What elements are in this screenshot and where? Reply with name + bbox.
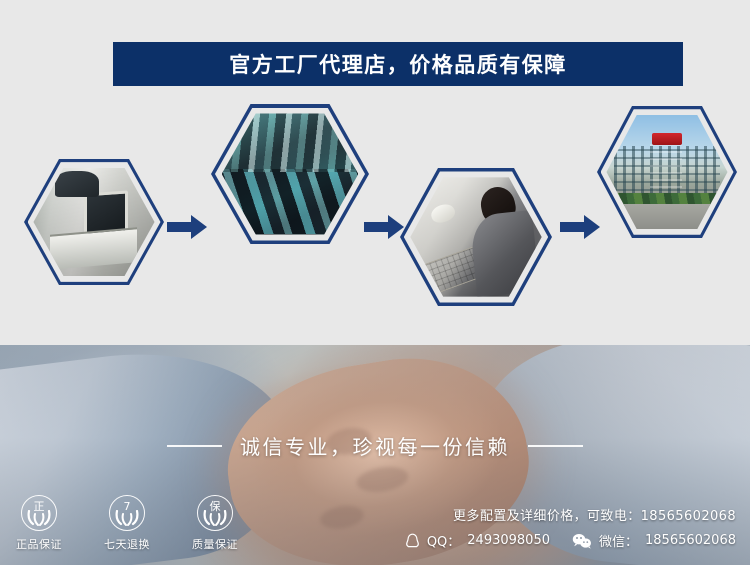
badge-seven-day-return: 7 七天退换 xyxy=(96,495,158,552)
guarantee-badges: 正 正品保证 7 xyxy=(8,495,246,552)
process-flow xyxy=(0,96,750,321)
qq-icon xyxy=(405,533,420,549)
equipment-photo xyxy=(33,168,154,277)
flow-arrow-3 xyxy=(560,214,600,240)
im-line: QQ： 2493098050 微信： 18565602068 xyxy=(405,531,736,550)
header-title: 官方工厂代理店，价格品质有保障 xyxy=(229,49,567,79)
badge-glyph: 保 xyxy=(198,501,232,512)
contact-block: 更多配置及详细价格，可致电：18565602068 QQ： 2493098050 xyxy=(405,505,736,550)
qq-number: 2493098050 xyxy=(467,533,550,548)
process-step-equipment xyxy=(24,159,164,285)
header-banner: 官方工厂代理店，价格品质有保障 xyxy=(113,42,683,86)
badge-label: 正品保证 xyxy=(16,536,62,552)
flow-arrow-2 xyxy=(364,214,404,240)
badge-quality: 保 质量保证 xyxy=(184,495,246,552)
process-step-service xyxy=(400,168,552,306)
factory-building-photo xyxy=(606,115,727,229)
promo-page: 官方工厂代理店，价格品质有保障 xyxy=(0,0,750,576)
wechat-icon xyxy=(572,533,592,549)
bottom-white-strip xyxy=(0,565,750,576)
customer-service-photo xyxy=(410,177,541,296)
badge-glyph: 正 xyxy=(22,501,56,512)
hands-quality-icon: 保 xyxy=(197,495,233,531)
qq-label: QQ： xyxy=(427,531,460,550)
top-section: 官方工厂代理店，价格品质有保障 xyxy=(0,0,750,345)
production-line-photo xyxy=(222,113,359,234)
slogan-rule-left xyxy=(167,445,222,447)
badge-authentic: 正 正品保证 xyxy=(8,495,70,552)
hands-seven-icon: 7 xyxy=(109,495,145,531)
badge-label: 质量保证 xyxy=(192,536,238,552)
process-step-production xyxy=(211,104,369,244)
process-step-factory xyxy=(597,106,737,238)
phone-line: 更多配置及详细价格，可致电：18565602068 xyxy=(453,505,736,524)
slogan-rule-right xyxy=(528,445,583,447)
wechat-label: 微信： xyxy=(599,531,638,550)
hands-shield-icon: 正 xyxy=(21,495,57,531)
slogan-row: 诚信专业，珍视每一份信赖 xyxy=(0,431,750,460)
badge-glyph: 7 xyxy=(110,501,144,512)
slogan-text: 诚信专业，珍视每一份信赖 xyxy=(240,431,510,460)
handshake-banner: 诚信专业，珍视每一份信赖 正 正品保证 7 xyxy=(0,345,750,565)
wechat-number: 18565602068 xyxy=(645,533,736,548)
flow-arrow-1 xyxy=(167,214,207,240)
badge-label: 七天退换 xyxy=(104,536,150,552)
